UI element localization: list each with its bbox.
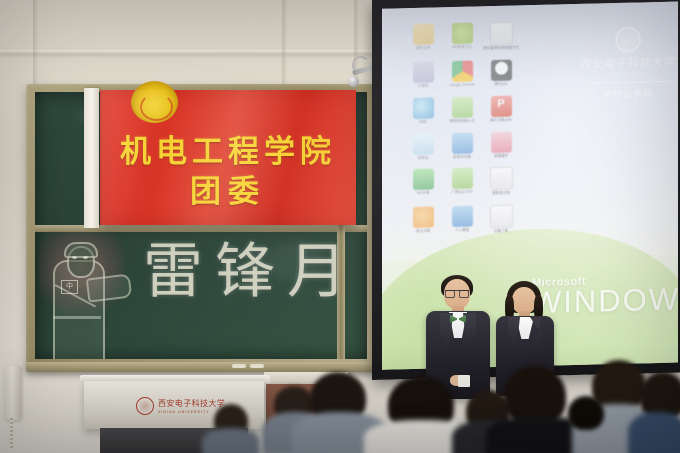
desktop-icon-label: 金山词霸 [404, 229, 442, 235]
desktop-icon-label: 网络 [404, 119, 442, 125]
audience-head [568, 396, 604, 430]
desktop-icon[interactable]: 我的文档 [404, 23, 442, 53]
youth-league-emblem [131, 81, 178, 123]
desktop-icon[interactable]: 教务管理系统快捷方式 [482, 21, 520, 51]
chalk-figure-cap [64, 242, 98, 258]
orange-g-icon [413, 207, 434, 229]
desktop-icon-label: 极速浏览器 [443, 154, 481, 160]
projector-arm-joint [348, 76, 359, 87]
wall-rail [0, 50, 380, 54]
computer-icon [413, 61, 434, 83]
desktop-icon-label: Google Chrome [443, 82, 481, 88]
watermark-rule [586, 81, 670, 84]
desktop-icon[interactable]: 讲课课件 [482, 131, 520, 159]
desktop-icon[interactable]: 人人桌面 [443, 206, 481, 236]
wall-seam [33, 0, 38, 90]
telephone-cord [10, 418, 13, 448]
white-card-icon [490, 167, 513, 191]
desktop-icon-label: 我的文档 [404, 45, 442, 51]
desktop-icon-label: 腾讯QQ [482, 81, 520, 87]
chalk-piece[interactable] [250, 364, 264, 368]
chalk-figure-belt [53, 316, 101, 319]
watermark-cn-name: 西安电子科技大学 [574, 53, 678, 72]
desktop-icon-label: 回收站 [404, 155, 442, 161]
watermark-en-name: XIDIAN U [574, 70, 678, 79]
desktop-icon[interactable]: 演示文稿.pptx [482, 95, 520, 123]
shield-icon [413, 169, 434, 191]
desktop-icon-label: 计算机 [404, 83, 442, 89]
classroom-photo: 中 雷锋月 机电工程学院 团委 我的文档360安全卫士教务管理系统快捷方式计算机… [0, 0, 680, 453]
white-card-icon [490, 22, 513, 46]
glasses-icon [445, 290, 469, 296]
desktop-icon-label: 人人桌面 [443, 228, 481, 234]
green-doc-icon [452, 96, 473, 118]
bow-tie [450, 315, 466, 323]
red-banner: 机电工程学院 团委 [100, 90, 356, 225]
chalk-portrait-lei-feng: 中 [39, 232, 125, 359]
desktop-icon-label: 讲课课件 [482, 153, 520, 159]
desktop-icon[interactable]: 网络 [404, 97, 442, 125]
banner-hanging-strap [84, 88, 99, 228]
desktop-icon[interactable]: 计算机 [404, 61, 442, 89]
white-card-icon [490, 205, 513, 229]
green-doc-icon [452, 168, 473, 190]
desktop-icon[interactable]: Google Chrome [443, 60, 481, 88]
pink-doc-icon [491, 131, 512, 153]
desktop-icon[interactable]: 迅雷下载 [482, 205, 520, 235]
desktop-icon[interactable]: 金山词霸 [404, 207, 442, 237]
watermark-subtitle: 南校区多媒 [574, 85, 678, 101]
chalk-figure-eye [83, 256, 88, 259]
university-seal-icon [136, 397, 154, 415]
audience-shoulders [628, 412, 680, 453]
globe-icon [413, 97, 434, 119]
desktop-icon-label: 演示文稿.pptx [482, 117, 520, 123]
chrome-icon [452, 60, 473, 82]
desktop-icon-label: 广联达云计价 [443, 190, 481, 196]
desktop-icon-label: 360安全卫士 [443, 44, 481, 50]
desktop-icon[interactable]: 腾讯QQ [482, 59, 520, 87]
chalk-figure-arm [86, 273, 133, 302]
audience-shoulders [202, 428, 260, 453]
desktop-icon-label: 教务管理系统快捷方式 [482, 45, 520, 51]
blue-app-icon [452, 206, 473, 228]
desktop-icon[interactable]: 360安全卫士 [443, 22, 481, 52]
desktop-icon[interactable]: 搜狗拼音输入法 [443, 96, 481, 124]
note-card [458, 375, 470, 387]
chalkboard-headline: 雷锋月 [143, 242, 359, 302]
male-presenter [424, 275, 494, 395]
desktop-icon[interactable]: 广联达云计价 [443, 168, 481, 198]
desktop-icon[interactable]: 课程表文档 [482, 167, 520, 197]
university-seal-icon [615, 26, 641, 53]
desktop-icon-grid: 我的文档360安全卫士教务管理系统快捷方式计算机Google Chrome腾讯Q… [404, 21, 520, 236]
desktop-icon-label: 课程表文档 [482, 191, 520, 197]
folder-icon [413, 23, 434, 45]
chalk-figure-badge: 中 [61, 280, 78, 294]
chalk-tray [26, 362, 376, 372]
university-watermark: 西安电子科技大学 XIDIAN U 南校区多媒 [574, 25, 678, 101]
desktop-icon[interactable]: 360杀毒 [404, 169, 442, 199]
banner-line-2: 团委 [100, 166, 356, 211]
desktop-icon-label: 迅雷下载 [482, 229, 520, 235]
wall-seam [282, 0, 287, 86]
desktop-icon-label: 360杀毒 [404, 191, 442, 197]
lectern-cn-name: 西安电子科技大学 [158, 398, 225, 409]
chalk-figure-eye [72, 256, 77, 259]
banner-line-1: 机电工程学院 [100, 126, 356, 171]
desktop-icon[interactable]: 回收站 [404, 133, 442, 161]
powerpoint-icon [491, 95, 512, 117]
wall-telephone[interactable] [4, 366, 21, 420]
desktop-icon[interactable]: 极速浏览器 [443, 132, 481, 160]
qq-penguin-icon [491, 59, 512, 81]
glass-bin-icon [413, 133, 434, 155]
desktop-icon-label: 搜狗拼音输入法 [443, 118, 481, 124]
face [512, 287, 536, 314]
blue-app-icon [452, 132, 473, 154]
chalk-piece[interactable] [232, 364, 246, 368]
green-plus-icon [452, 23, 473, 45]
